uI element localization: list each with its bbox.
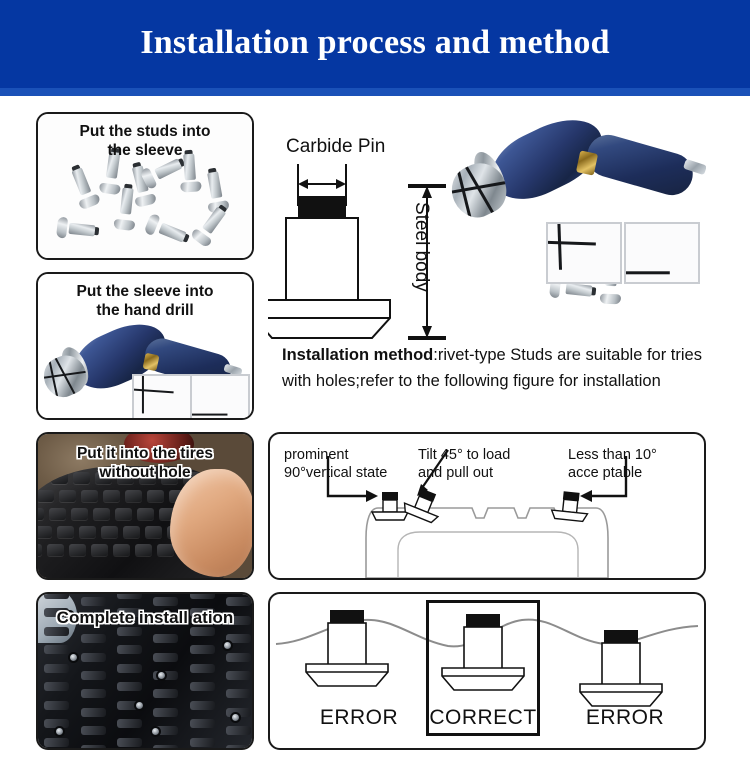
tool-inset-3	[546, 222, 622, 284]
stud-item	[189, 203, 232, 249]
header-accent-strip	[0, 88, 750, 96]
step-caption-sleeve: Put the sleeve into the hand drill	[38, 282, 252, 320]
step-caption-tire: Put it into the tires without hole	[38, 444, 252, 482]
error-label-right: ERROR	[570, 706, 680, 730]
error-correct-panel: ERROR CORRECT ERROR	[268, 592, 706, 750]
step-caption-studs: Put the studs into the sleeve	[38, 122, 252, 160]
installation-method-text: Installation method:rivet-type Studs are…	[282, 342, 702, 394]
tool-photo	[438, 112, 706, 310]
tool-inset-4	[624, 222, 700, 284]
tool-inset-2	[190, 374, 250, 420]
installation-method-label: Installation method	[282, 346, 433, 364]
step-caption-complete: Complete install ation	[38, 608, 252, 627]
stud-item	[143, 211, 189, 248]
tire-cross-section-diagram	[270, 434, 704, 578]
correct-label: CORRECT	[428, 706, 538, 730]
step-panel-sleeve: Put the sleeve into the hand drill	[36, 272, 254, 420]
step-panel-complete: Complete install ation	[36, 592, 254, 750]
error-label-left: ERROR	[304, 706, 414, 730]
page-title: Installation process and method	[0, 24, 750, 62]
stud-item	[112, 187, 140, 231]
steel-body-label: Steel body	[410, 202, 432, 292]
carbide-pin-label: Carbide Pin	[286, 136, 385, 158]
tool-inset-1	[132, 374, 192, 420]
angles-diagram-panel: prominent 90°vertical state Tilt 45° to …	[268, 432, 706, 580]
step-panel-tire: Put it into the tires without hole	[36, 432, 254, 580]
step-panel-studs: Put the studs into the sleeve	[36, 112, 254, 260]
stud-item	[56, 215, 96, 243]
